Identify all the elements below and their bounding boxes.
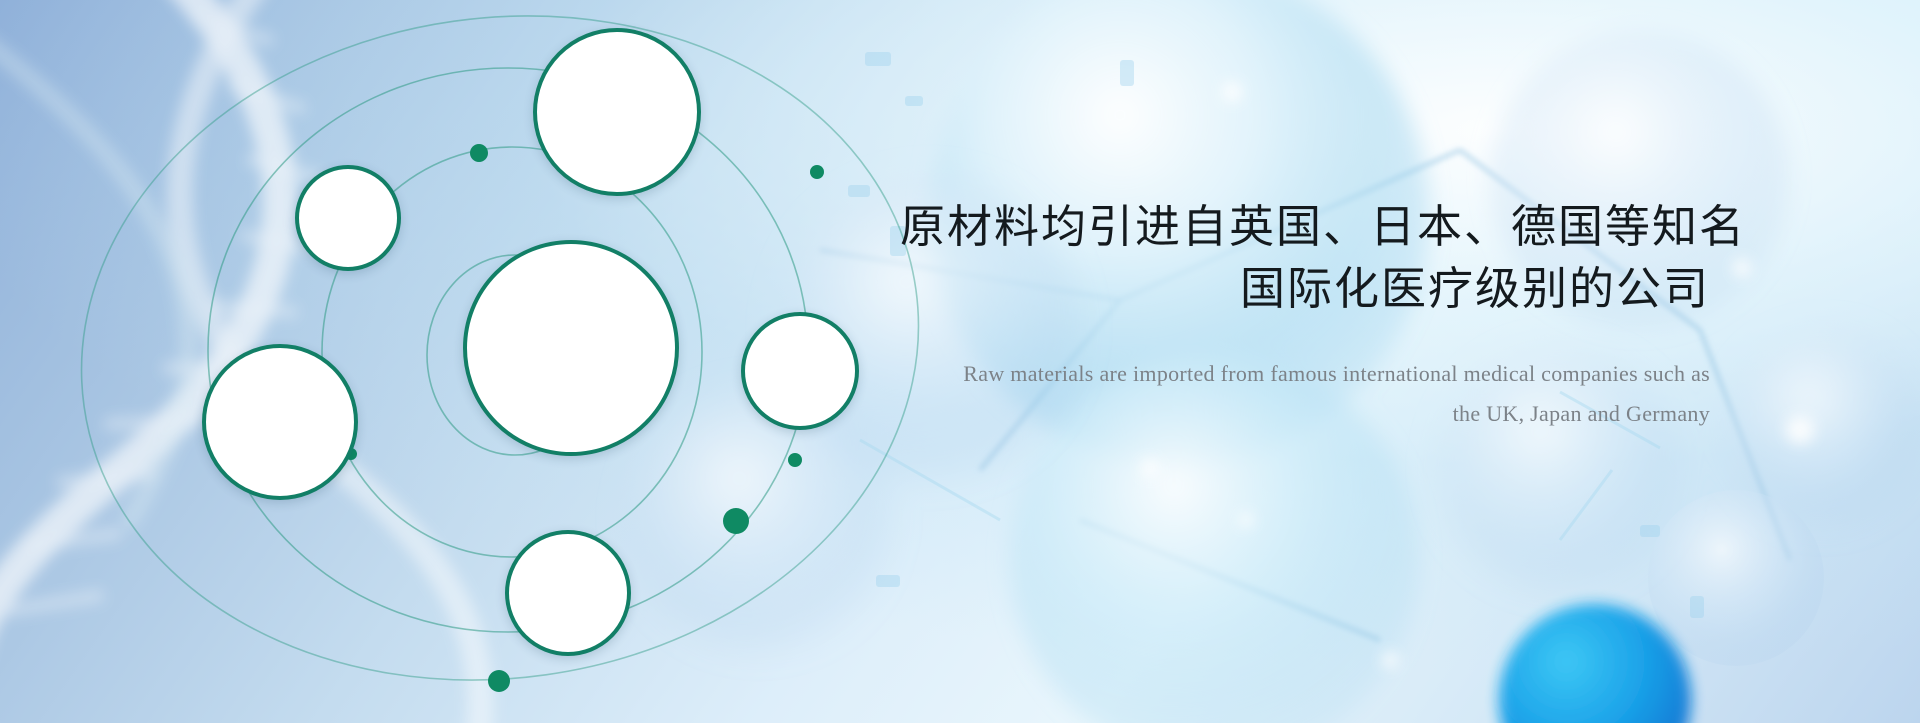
node-face-shield-operator[interactable]: [533, 28, 701, 196]
node-lead-cap[interactable]: [295, 165, 401, 271]
headline-line-1: 原材料均引进自英国、日本、德国等知名: [900, 196, 1710, 258]
orbit-dot: [788, 453, 802, 467]
orbit-dot: [470, 144, 488, 162]
node-lead-glasses-operator[interactable]: [202, 344, 358, 500]
protective-hood-photo: [509, 534, 631, 656]
thyroid-collar-photo: [745, 316, 859, 430]
orbit-diagram: [0, 0, 980, 723]
subtitle-block: Raw materials are imported from famous i…: [900, 354, 1710, 434]
headline-line-2: 国际化医疗级别的公司: [900, 258, 1710, 320]
mobile-x-ray-barrier-photo: [467, 244, 679, 456]
promo-banner: 原材料均引进自英国、日本、德国等知名 国际化医疗级别的公司 Raw materi…: [0, 0, 1920, 723]
subtitle-line-1: Raw materials are imported from famous i…: [900, 354, 1710, 394]
lead-cap-photo: [299, 169, 401, 271]
lead-glasses-operator-photo: [206, 348, 358, 500]
node-mobile-x-ray-barrier[interactable]: [463, 240, 679, 456]
banner-text-block: 原材料均引进自英国、日本、德国等知名 国际化医疗级别的公司 Raw materi…: [900, 196, 1710, 434]
node-thyroid-collar[interactable]: [741, 312, 859, 430]
node-protective-hood[interactable]: [505, 530, 631, 656]
blue-atom-sphere: [1499, 490, 1824, 723]
orbit-dot: [723, 508, 749, 534]
orbit-dot: [488, 670, 510, 692]
subtitle-line-2: the UK, Japan and Germany: [900, 394, 1710, 434]
face-shield-operator-photo: [537, 32, 701, 196]
orbit-dot: [810, 165, 824, 179]
